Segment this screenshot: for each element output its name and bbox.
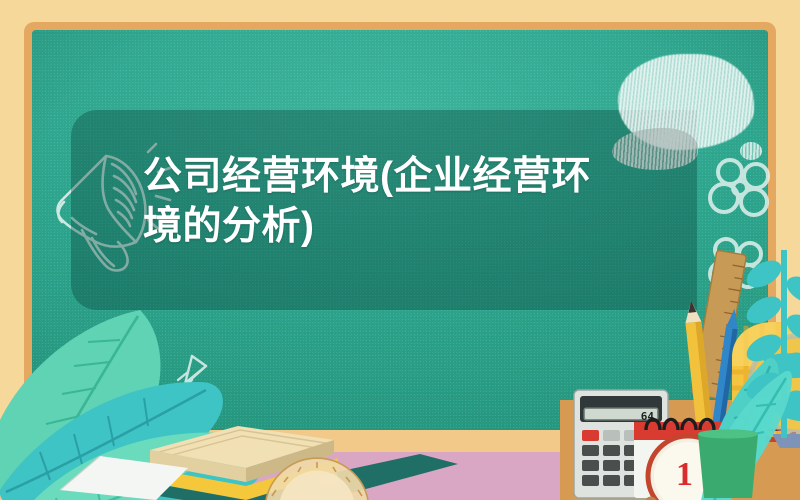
protractor-icon: [262, 438, 372, 500]
title-line-1: 公司经营环境(企业经营环: [143, 155, 591, 198]
cup-icon: [690, 428, 766, 500]
banner-image: 64: [0, 0, 800, 500]
page-title: 公司经营环境(企业经营环境的分析): [143, 152, 703, 252]
title-line-2: 境的分析): [143, 205, 315, 248]
paper-sheet: [60, 450, 190, 500]
flower-icon: [700, 150, 786, 236]
